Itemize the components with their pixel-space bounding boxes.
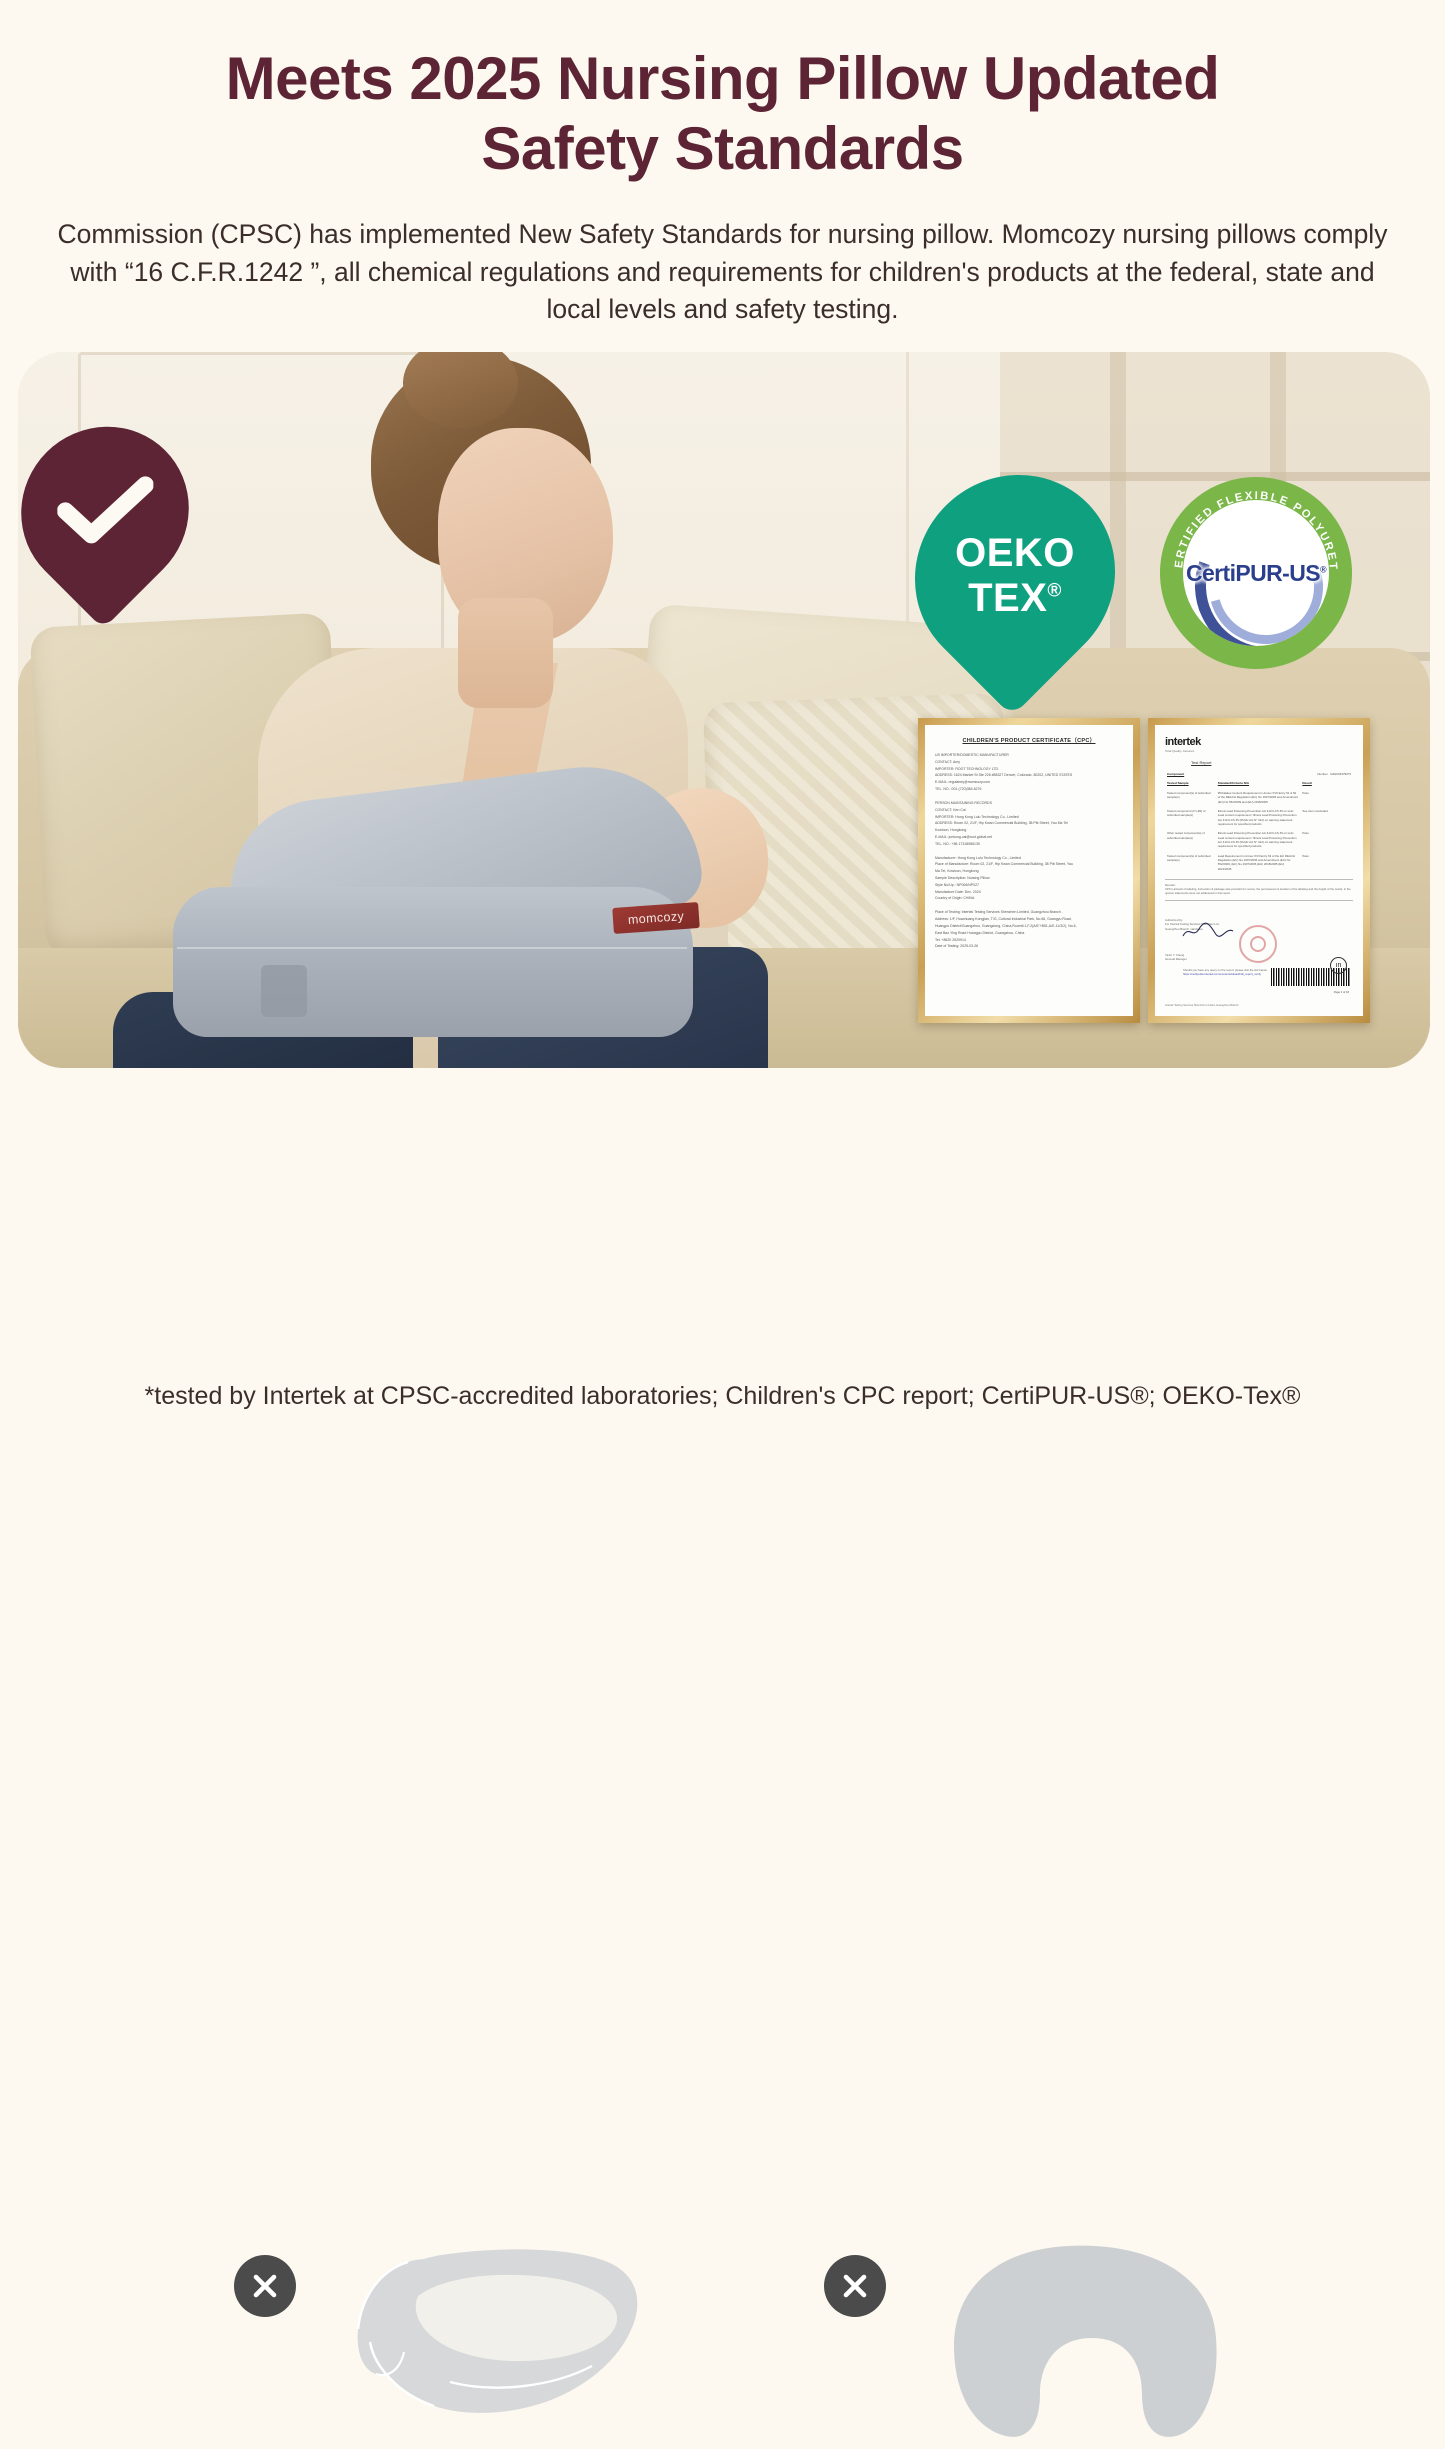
infographic-page: Meets 2025 Nursing Pillow Updated Safety… xyxy=(0,0,1445,1445)
cell-criteria: Illinois Lead Poisoning Prevention Act 4… xyxy=(1216,806,1301,828)
intertek-number-value: GZHK04379073 xyxy=(1330,772,1351,776)
pillow-base: momcozy xyxy=(173,887,693,1037)
certipur-core: CertiPUR-US® xyxy=(1183,500,1329,646)
cpc-line: TEL. NO.: 001-(720)384-6276 xyxy=(935,786,1123,793)
nursing-pillow-product: momcozy xyxy=(173,782,703,1037)
oeko-tex-line-2: TEX® xyxy=(968,578,1062,618)
col-header-sample: Tested Sample xyxy=(1167,781,1189,785)
intertek-logo: intertek xyxy=(1165,736,1353,748)
cpc-line: CONTACT: Amy xyxy=(935,759,1123,766)
cpc-certificate-paper: CHILDREN'S PRODUCT CERTIFICATE（CPC） US I… xyxy=(925,725,1133,1016)
pillow-strap xyxy=(261,965,307,1017)
cpc-line: ADDRESS: 1624 Market St Ste 226 #88327 D… xyxy=(935,772,1123,779)
cpc-certificate-title: CHILDREN'S PRODUCT CERTIFICATE（CPC） xyxy=(935,736,1123,744)
intertek-tagline: Total Quality. Assured. xyxy=(1165,749,1353,753)
cpc-line: TEL. NO.: +86 17318986139 xyxy=(935,841,1123,848)
cpc-line: Style No/Up.: NP006/NP027 xyxy=(935,882,1123,889)
table-row: Tested component (2Y+3R) of submitted sa… xyxy=(1165,806,1353,828)
cpc-line: IMPORTER: ROOT TECHNOLOGY LTD. xyxy=(935,766,1123,773)
cpc-line: US IMPORTER/DOMESTIC MANUFACTURER xyxy=(935,752,1123,759)
comparison-row xyxy=(0,1110,1445,1360)
cell-result: Pass xyxy=(1300,851,1353,873)
brand-tag: momcozy xyxy=(612,902,700,934)
cpc-line: Place of Manufacture: Room 02, 21/F, Hip… xyxy=(935,861,1123,868)
certipur-wordmark-text: CertiPUR-US xyxy=(1186,560,1320,586)
page-title-line-1: Meets 2025 Nursing Pillow Updated xyxy=(226,45,1220,112)
cpc-line: ADDRESS: Room 02, 21/F, Hip Kwan Commerc… xyxy=(935,820,1123,827)
page-title: Meets 2025 Nursing Pillow Updated Safety… xyxy=(0,44,1445,184)
pillow-seam xyxy=(177,947,687,949)
cpc-line: Manufacturer: Hong Kong Lulu Technology … xyxy=(935,855,1123,862)
intro-paragraph: Commission (CPSC) has implemented New Sa… xyxy=(55,216,1390,329)
cpc-line: Tel: +8620 2520914 xyxy=(935,937,1123,944)
col-header-result: Result xyxy=(1302,781,1311,785)
page-title-line-2: Safety Standards xyxy=(0,114,1445,184)
cell-sample: Tested component(s) of submitted sample(… xyxy=(1165,851,1216,873)
intertek-certificate: intertek Total Quality. Assured. Test Re… xyxy=(1148,718,1370,1023)
table-row: Component Number GZHK04379073 xyxy=(1165,769,1353,779)
cpc-line: Ma Tei, Kowloon, Hongkong xyxy=(935,868,1123,875)
cpc-line: Manufacture Date: Dec. 2024 xyxy=(935,889,1123,896)
reject-badge-right xyxy=(824,2255,886,2317)
cell-sample: Tested component (2Y+3R) of submitted sa… xyxy=(1165,806,1216,828)
cpc-certificate: CHILDREN'S PRODUCT CERTIFICATE（CPC） US I… xyxy=(918,718,1140,1023)
cpc-line: Sample Description: Nursing Pillow xyxy=(935,875,1123,882)
certipur-wordmark: CertiPUR-US® xyxy=(1186,560,1326,587)
check-icon xyxy=(57,475,153,547)
cpc-line: Huangpu District/Guangzhou, Guangdong, C… xyxy=(935,923,1123,930)
table-row: Tested component(s) of submitted sample(… xyxy=(1165,851,1353,873)
oeko-tex-registered-mark: ® xyxy=(1047,580,1062,601)
oeko-tex-line-1: OEKO xyxy=(955,533,1075,573)
intertek-mark-icon: ın xyxy=(1330,957,1347,974)
col-header-criteria: Standard/Criteria N/A xyxy=(1218,781,1249,785)
intertek-page-label: Page 3 of 18 xyxy=(1334,991,1349,994)
cpc-line: CONTACT: Ken Cai xyxy=(935,807,1123,814)
intertek-certificate-paper: intertek Total Quality. Assured. Test Re… xyxy=(1155,725,1363,1016)
cpc-line: E-MAIL: regulatory@momcozy.com xyxy=(935,779,1123,786)
cpc-line: East Bao Ying Road Huangpu District, Gua… xyxy=(935,930,1123,937)
cell-result: Pass xyxy=(1300,829,1353,851)
x-icon xyxy=(839,2270,871,2302)
cpc-line: Kowloon, Hongkong xyxy=(935,827,1123,834)
intertek-remark-text: CPC's artwork of labeling, instruction &… xyxy=(1165,887,1353,895)
intertek-results-table: Component Number GZHK04379073 Tested Sam… xyxy=(1165,769,1353,874)
cell-criteria: Lead Requirement in Annex XVII Entry 63 … xyxy=(1216,851,1301,873)
cpc-line: Address: 1/F, Huachuang Kongjian, T/G, C… xyxy=(935,916,1123,923)
table-row: Tested Sample Standard/Criteria N/A Resu… xyxy=(1165,779,1353,789)
cell-criteria: Phthalates Content Requirement in Annex … xyxy=(1216,788,1301,806)
intertek-footer-text: Intertek Testing Services Shenzhen Limit… xyxy=(1165,1004,1238,1008)
reject-badge-left xyxy=(234,2255,296,2317)
certipur-us-badge: CONTAINS CERTIFIED FLEXIBLE POLYURETHANE… xyxy=(1160,477,1352,669)
cell-result: See item concluded xyxy=(1300,806,1353,828)
cpc-line: PERSON MAINTAINING RECORDS xyxy=(935,800,1123,807)
cell-sample: Other tested component(s) of submitted s… xyxy=(1165,829,1216,851)
footnote: *tested by Intertek at CPSC-accredited l… xyxy=(0,1382,1445,1411)
col-header-component: Component xyxy=(1167,772,1184,776)
x-icon xyxy=(249,2270,281,2302)
cell-result: Pass xyxy=(1300,788,1353,806)
cpc-line: Country of Origin: CHINA xyxy=(935,895,1123,902)
oeko-tex-text: TEX xyxy=(968,576,1047,620)
cpc-line: Place of Testing: Intertek Testing Servi… xyxy=(935,909,1123,916)
intertek-number-label: Number xyxy=(1317,772,1327,776)
cell-criteria: Illinois Lead Poisoning Prevention Act 4… xyxy=(1216,829,1301,851)
official-stamp-icon xyxy=(1239,925,1277,963)
table-row: Tested component(s) of submitted sample(… xyxy=(1165,788,1353,806)
certipur-registered-mark: ® xyxy=(1320,564,1326,574)
table-row: Other tested component(s) of submitted s… xyxy=(1165,829,1353,851)
c-shaped-pillow-illustration xyxy=(330,2234,650,2449)
flat-nursing-pillow-illustration xyxy=(920,2234,1240,2449)
intertek-report-label: Test Report xyxy=(1191,760,1353,765)
cell-sample: Tested component(s) of submitted sample(… xyxy=(1165,788,1216,806)
cpc-line: E-MAIL: junkong.cai@root.global.net xyxy=(935,834,1123,841)
signature-icon xyxy=(1181,921,1235,941)
mother-neck xyxy=(458,598,553,708)
cpc-line: IMPORTER: Hong Kong Lulu Technology Co.,… xyxy=(935,814,1123,821)
cpc-line: Date of Testing: 2025-03-26 xyxy=(935,943,1123,950)
